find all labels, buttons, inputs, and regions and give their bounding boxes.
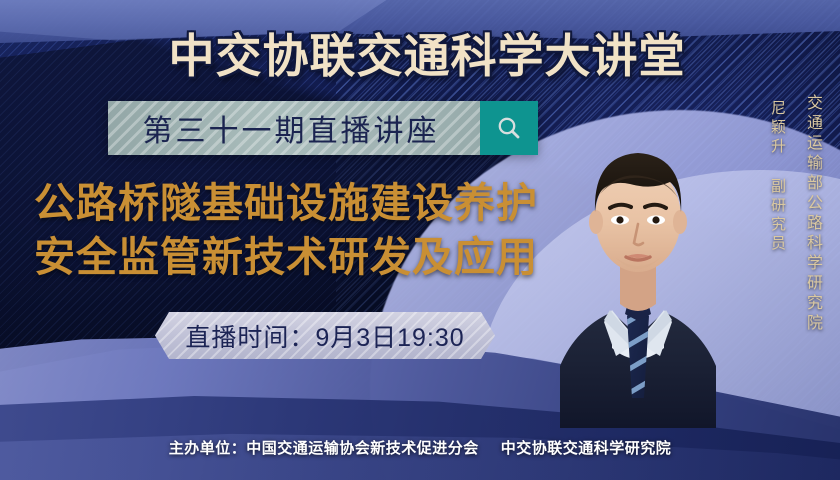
- footer-organizer-2: 中交协联交通科学研究院: [501, 440, 672, 457]
- speaker-portrait-illustration: [554, 98, 722, 428]
- search-icon: [496, 115, 522, 141]
- webinar-poster: 中交协联交通科学大讲堂 第三十一期直播讲座 公路桥隧基础设施建设养护 安全监管新…: [0, 0, 840, 480]
- headline-line-1: 公路桥隧基础设施建设养护: [34, 176, 594, 230]
- speaker-portrait: [554, 98, 722, 428]
- footer-organizer-1: 中国交通运输协会新技术促进分会: [246, 440, 479, 457]
- headline-line-2: 安全监管新技术研发及应用: [34, 230, 594, 284]
- episode-banner: 第三十一期直播讲座: [108, 101, 538, 155]
- speaker-affiliation: 交通运输部公路科学研究院: [800, 94, 824, 334]
- main-title: 中交协联交通科学大讲堂: [0, 20, 840, 86]
- footer-organizers: 主办单位：中国交通运输协会新技术促进分会中交协联交通科学研究院: [0, 437, 840, 458]
- broadcast-time-banner: 直播时间：9月3日19:30: [155, 312, 495, 359]
- episode-label: 第三十一期直播讲座: [108, 101, 480, 155]
- headline: 公路桥隧基础设施建设养护 安全监管新技术研发及应用: [34, 176, 594, 284]
- speaker-name-title: 尼颖升 副研究员: [767, 100, 788, 254]
- broadcast-time-label: 直播时间：9月3日19:30: [185, 318, 464, 354]
- footer-organizer-label: 主办单位：: [169, 440, 247, 457]
- search-button[interactable]: [480, 101, 538, 155]
